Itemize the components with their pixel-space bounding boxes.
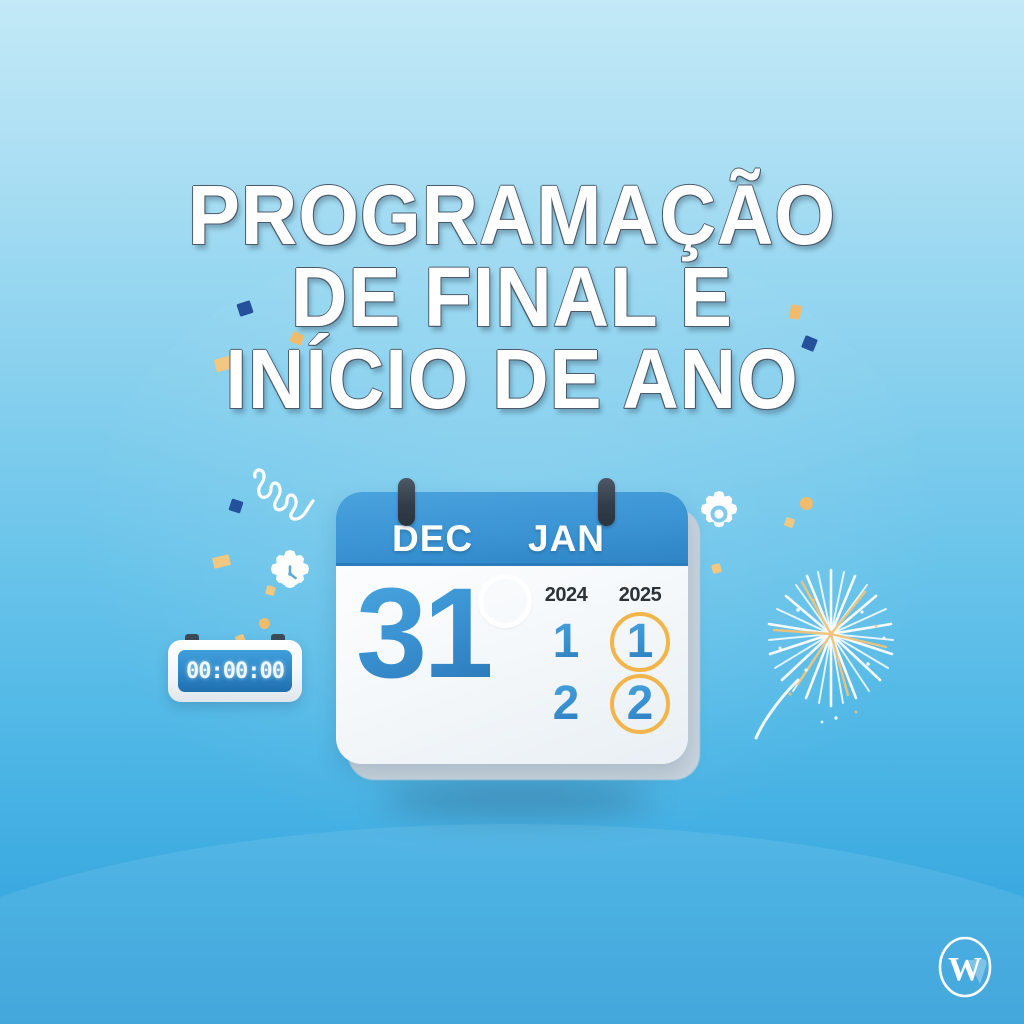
timer-screen: 00:00:00 [178,650,292,692]
timer-display: 00:00:00 [186,659,284,684]
confetti-piece [265,585,276,596]
calendar-ring-left [398,478,415,526]
calendar-big-day: 31 [356,570,490,698]
calendar-year-label-2024: 2024 [534,584,598,607]
background-bottom-arc [0,824,1024,1024]
calendar-day-row-1: 1 1 [534,611,674,673]
calendar-drop-shadow [382,782,652,816]
page-title: PROGRAMAÇÃO DE FINAL E INÍCIO DE ANO [0,176,1024,418]
confetti-piece [228,498,243,513]
digital-timer: 00:00:00 [168,640,302,702]
timer-case: 00:00:00 [168,640,302,702]
title-line-2: DE FINAL E [36,258,988,336]
calendar-day-row-2: 2 2 [534,673,674,735]
calendar-year-headers: 2024 2025 [534,584,674,607]
calendar-illustration: DEC JAN 31 2024 2025 1 1 2 2 [336,492,694,772]
calendar-day-2024-2: 2 [534,680,598,728]
calendar-header: DEC JAN [336,492,688,566]
calendar-day-2025-2: 2 [608,680,672,728]
confetti-piece [711,563,722,574]
calendar-year-columns: 2024 2025 1 1 2 2 [534,584,674,735]
gear-icon [694,489,744,539]
calendar-ring-right [598,478,615,526]
title-line-3: INÍCIO DE ANO [36,340,988,418]
fireworks-icon [736,552,914,742]
calendar-big-day-circle [478,574,532,628]
calendar-month-jan: JAN [528,518,605,560]
poster-canvas: PROGRAMAÇÃO DE FINAL E INÍCIO DE ANO [0,0,1024,1024]
confetti-piece [800,497,813,510]
wordpress-logo-letter: W [948,951,982,988]
wordpress-w-logo[interactable]: W [930,932,1000,1002]
title-line-1: PROGRAMAÇÃO [36,176,988,254]
party-streamer-icon [249,463,325,525]
calendar-body: DEC JAN 31 2024 2025 1 1 2 2 [336,492,688,764]
calendar-year-label-2025: 2025 [608,584,672,607]
confetti-piece [259,618,270,629]
confetti-piece [212,554,231,569]
calendar-day-2025-1: 1 [608,618,672,666]
calendar-day-2024-1: 1 [534,618,598,666]
confetti-piece [784,517,796,529]
